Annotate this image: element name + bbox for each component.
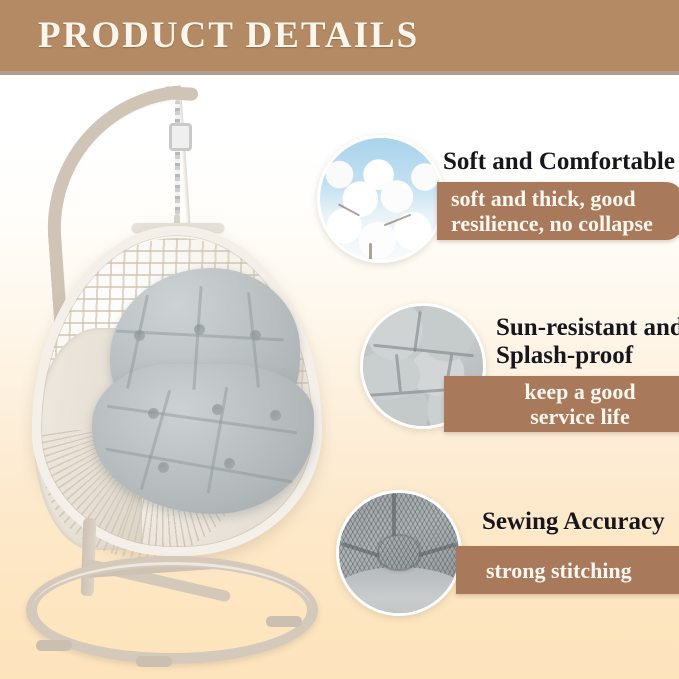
feature-tag-line: strong stitching [486,558,632,583]
mesh-seam [392,493,396,541]
page-title: PRODUCT DETAILS [38,14,419,57]
cushion-crease [413,311,422,352]
feature-tag-line: service life [510,404,650,429]
cushion-tuft [134,330,145,341]
cushion-tuft [194,324,205,335]
feature-soft-and-comfortable: Soft and Comfortable soft and thick, goo… [315,130,679,265]
product-details-infographic: PRODUCT DETAILS [0,0,679,679]
feature-heading-line: Sun-resistant and [496,314,679,342]
base-foot [266,616,302,627]
header-banner-edge [0,71,679,75]
product-image-hanging-egg-chair [12,78,332,668]
cushion-tuft [212,404,223,415]
cushion-crease [373,344,474,358]
cotton-stem [369,243,372,263]
cotton-stem [338,203,360,216]
chair-stand-base [26,508,326,668]
cushion-tuft [270,410,281,421]
feature-tag-line: resilience, no collapse [451,211,653,236]
mesh-photo-content [339,493,459,613]
feature-tag-line: soft and thick, good [451,186,653,211]
feature-tag: keep a good service life [444,376,679,432]
mesh-floor [336,567,462,616]
feature-tag: strong stitching [456,546,679,594]
base-foot [136,656,172,667]
cushion-tuft [250,330,261,341]
feature-tag-line: keep a good [510,379,650,404]
feature-heading-line: Splash-proof [496,342,679,370]
cotton-photo-content [320,138,442,260]
stand-arm-cap [162,86,199,101]
base-foot [36,640,72,651]
hanging-chain [175,100,180,228]
feature-heading: Sun-resistant and Splash-proof [496,314,679,370]
cushion-tuft [224,458,235,469]
stitched-button [379,536,420,568]
cushion-tuft [158,462,169,473]
cushion-tuft [148,408,159,419]
feature-tag: soft and thick, good resilience, no coll… [437,182,679,240]
feature-heading: Soft and Comfortable [443,148,675,176]
feature-heading: Sewing Accuracy [482,508,665,536]
chain-link [169,123,192,151]
cotton-bolls-photo [317,135,445,263]
feature-sun-resistant-and-splash-proof: Sun-resistant and Splash-proof keep a go… [358,300,679,435]
mesh-stitching-closeup-photo [336,490,462,616]
cushion-crease [395,354,402,392]
cotton-stem [384,213,412,226]
feature-sewing-accuracy: Sewing Accuracy strong stitching [334,486,679,621]
base-ring-highlight [32,562,312,658]
gray-tufted-cushion [92,268,314,518]
